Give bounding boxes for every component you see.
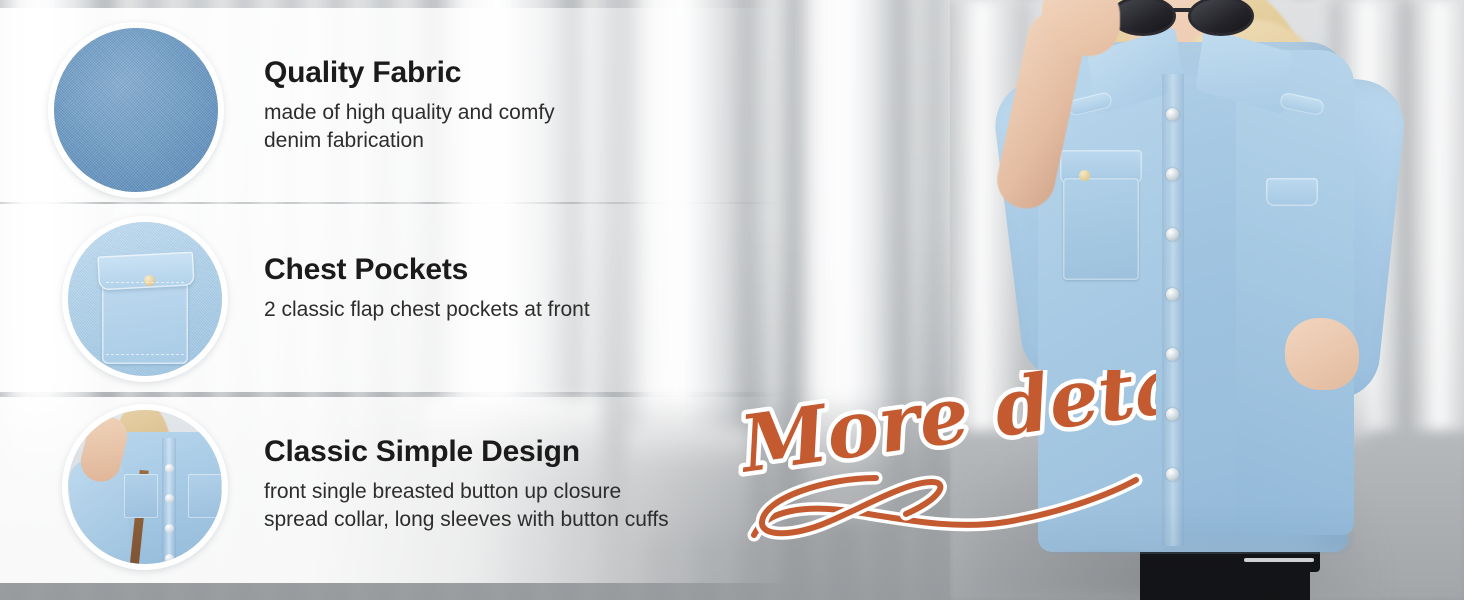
feature-description-3: front single breasted button up closure … xyxy=(264,478,669,534)
rip-strand xyxy=(1244,558,1314,562)
sunglasses-icon xyxy=(1110,0,1275,38)
feature-list: Quality Fabric made of high quality and … xyxy=(0,0,820,600)
closeup-model-button xyxy=(165,464,174,473)
denim-fabric-swatch-icon xyxy=(54,28,218,192)
chest-pocket-flap-right xyxy=(1266,178,1318,206)
feature-description-1: made of high quality and comfy denim fab… xyxy=(264,99,555,155)
feature-title-3: Classic Simple Design xyxy=(264,437,669,467)
feature-title-2: Chest Pockets xyxy=(264,255,590,285)
closeup-model-button xyxy=(165,524,174,533)
chest-pocket-closeup-icon xyxy=(68,222,222,376)
sunglass-lens-right xyxy=(1188,0,1254,36)
feature-text-3: Classic Simple Design front single breas… xyxy=(264,437,669,534)
photo-backdrop-column-3 xyxy=(1402,0,1464,430)
closeup-model-button xyxy=(165,494,174,503)
shirt-button-6 xyxy=(1166,408,1179,421)
shirt-button-3 xyxy=(1166,228,1179,241)
closeup-stitch-line xyxy=(106,282,184,283)
chest-pocket-left xyxy=(1063,178,1139,280)
feature-text-2: Chest Pockets 2 classic flap chest pocke… xyxy=(264,255,590,324)
chest-pocket-button-left xyxy=(1079,170,1090,181)
closeup-model-button xyxy=(165,554,174,563)
shirt-button-1 xyxy=(1166,108,1179,121)
feature-thumb-denim-fabric-swatch xyxy=(48,22,224,198)
feature-title-1: Quality Fabric xyxy=(264,58,555,88)
shirt-button-5 xyxy=(1166,348,1179,361)
closeup-model-pocket-left xyxy=(124,474,158,518)
model-wearing-denim-shirt-icon xyxy=(68,410,222,564)
model-lower-hand xyxy=(1285,318,1359,390)
more-details-callout: .sc-out { font-family:"DejaVu Serif", se… xyxy=(736,370,1156,570)
denim-shirt-front-right xyxy=(1236,50,1354,535)
more-details-script-svg: .sc-out { font-family:"DejaVu Serif", se… xyxy=(736,370,1156,570)
shirt-button-2 xyxy=(1166,168,1179,181)
closeup-model-pocket-right xyxy=(188,474,222,518)
closeup-model-placket xyxy=(162,438,176,570)
closeup-stitch-line xyxy=(106,354,184,355)
feature-thumb-model-wearing-denim-shirt xyxy=(62,404,228,570)
shirt-button-4 xyxy=(1166,288,1179,301)
feature-thumb-chest-pocket-closeup xyxy=(62,216,228,382)
feature-description-2: 2 classic flap chest pockets at front xyxy=(264,296,590,324)
shirt-button-7 xyxy=(1166,468,1179,481)
closeup-pocket-button xyxy=(144,275,155,286)
feature-text-1: Quality Fabric made of high quality and … xyxy=(264,58,555,155)
more-details-text: More details xyxy=(736,370,1156,491)
